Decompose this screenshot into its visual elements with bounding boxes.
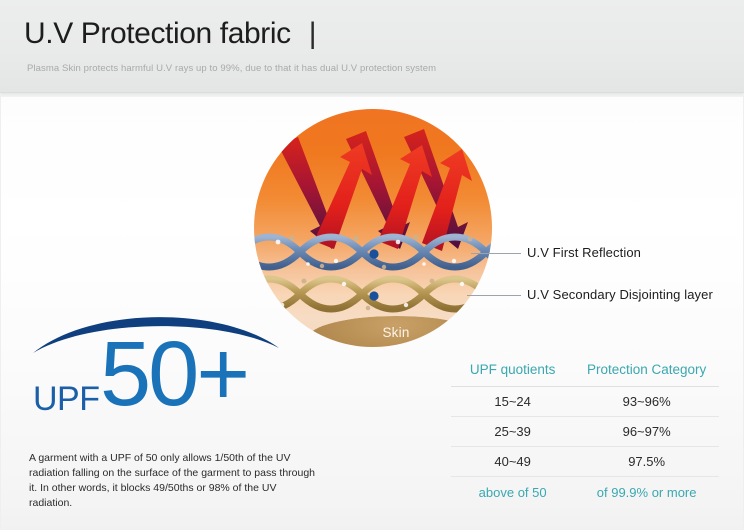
cell-upf-quotient: 25~39	[451, 417, 574, 447]
page-title: U.V Protection fabric|	[24, 17, 316, 51]
upf-value: 50+	[100, 328, 247, 420]
table-row: 15~24 93~96%	[451, 387, 719, 417]
upf-protection-table: UPF quotients Protection Category 15~24 …	[451, 355, 719, 507]
table-row: 40~49 97.5%	[451, 447, 719, 477]
table-header-row: UPF quotients Protection Category	[451, 355, 719, 387]
uv-protection-infographic: U.V Protection fabric| Plasma Skin prote…	[0, 0, 744, 530]
cell-upf-quotient: 40~49	[451, 447, 574, 477]
callout-leader-line	[471, 253, 521, 254]
cell-protection-category: 96~97%	[574, 417, 719, 447]
callout-leader-line	[467, 295, 521, 296]
page-title-text: U.V Protection fabric	[24, 17, 291, 50]
column-header-upf-quotients: UPF quotients	[451, 355, 574, 387]
cell-protection-category-summary: of 99.9% or more	[574, 477, 719, 508]
column-header-protection-category: Protection Category	[574, 355, 719, 387]
table-row: 25~39 96~97%	[451, 417, 719, 447]
upf-rating-logo: UPF 50+	[23, 308, 293, 428]
page-header: U.V Protection fabric| Plasma Skin prote…	[0, 0, 744, 93]
content-area: Skin U.V First Reflection U.V Secondary …	[0, 93, 744, 530]
page-title-divider-bar: |	[309, 17, 316, 51]
fabric-layer-upper-weave	[254, 230, 492, 274]
cell-upf-quotient-summary: above of 50	[451, 477, 574, 508]
cell-protection-category: 97.5%	[574, 447, 719, 477]
upf-description-paragraph: A garment with a UPF of 50 only allows 1…	[29, 451, 319, 511]
content-top-strip	[1, 93, 744, 97]
cell-upf-quotient: 15~24	[451, 387, 574, 417]
callout-label-secondary-disjointing: U.V Secondary Disjointing layer	[527, 287, 713, 302]
callout-label-first-reflection: U.V First Reflection	[527, 245, 641, 260]
table-summary-row: above of 50 of 99.9% or more	[451, 477, 719, 508]
page-subtitle: Plasma Skin protects harmful U.V rays up…	[27, 63, 436, 74]
skin-label: Skin	[308, 325, 484, 340]
cell-protection-category: 93~96%	[574, 387, 719, 417]
upf-label: UPF	[33, 380, 100, 419]
